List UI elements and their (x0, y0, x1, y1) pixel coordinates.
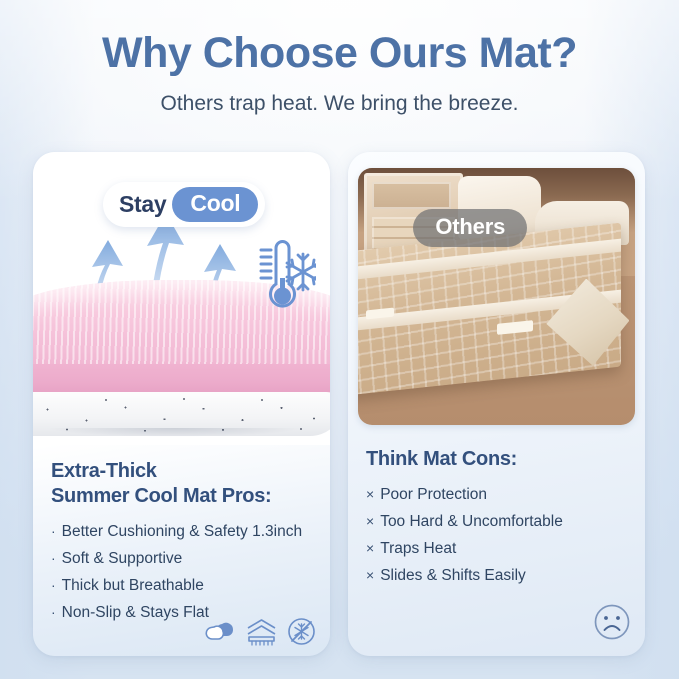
others-badge: Others (413, 209, 527, 247)
list-item: × Too Hard & Uncomfortable (366, 508, 627, 535)
bullet-text: Too Hard & Uncomfortable (380, 509, 563, 535)
cons-body: Think Mat Cons: × Poor Protection × Too … (348, 425, 645, 656)
list-item: · Better Cushioning & Safety 1.3inch (51, 518, 312, 545)
bullet-text: Non-Slip & Stays Flat (62, 600, 209, 626)
mat-shadow (33, 428, 322, 440)
bullet-marker: · (51, 599, 56, 625)
pros-heading: Extra-Thick Summer Cool Mat Pros: (51, 459, 312, 509)
cross-marker: × (366, 508, 374, 534)
sad-face-wrapper (593, 603, 631, 646)
cons-list: × Poor Protection × Too Hard & Uncomfort… (366, 481, 627, 589)
comparison-infographic: Why Choose Ours Mat? Others trap heat. W… (0, 0, 679, 679)
cross-marker: × (366, 535, 374, 561)
snowflake-icon (287, 254, 316, 290)
list-item: · Soft & Supportive (51, 545, 312, 572)
bullet-text: Soft & Supportive (62, 546, 183, 572)
header: Why Choose Ours Mat? Others trap heat. W… (0, 26, 679, 118)
anti-mite-icon (287, 617, 316, 646)
bullet-marker: · (51, 545, 56, 571)
breathable-layers-icon (245, 618, 278, 646)
pros-list: · Better Cushioning & Safety 1.3inch · S… (51, 518, 312, 626)
cons-card: Others Think Mat Cons: × Poor Protection… (348, 152, 645, 656)
pros-body: Extra-Thick Summer Cool Mat Pros: · Bett… (33, 445, 330, 656)
pros-heading-line1: Extra-Thick (51, 460, 157, 482)
bullet-text: Poor Protection (380, 482, 487, 508)
sad-face-icon (593, 603, 631, 641)
others-mat-photo: Others (358, 168, 635, 425)
bullet-marker: · (51, 518, 56, 544)
bedroom-photo: Others (358, 168, 635, 425)
list-item: × Slides & Shifts Easily (366, 562, 627, 589)
pros-card: Stay Cool (33, 152, 330, 656)
pros-heading-line2: Summer Cool Mat Pros: (51, 485, 271, 507)
page-subtitle: Others trap heat. We bring the breeze. (0, 90, 679, 118)
thermometer-snowflake-group (232, 238, 316, 321)
stay-cool-badge: Stay Cool (103, 182, 265, 227)
comparison-cards: Stay Cool (33, 152, 646, 656)
badge-word-cool: Cool (172, 187, 258, 222)
bullet-text: Slides & Shifts Easily (380, 563, 526, 589)
badge-word-stay: Stay (119, 191, 166, 218)
feature-icons (205, 617, 316, 646)
bullet-text: Traps Heat (380, 536, 456, 562)
cooling-mat-illustration: Stay Cool (33, 152, 330, 445)
bullet-text: Thick but Breathable (62, 573, 204, 599)
others-badge-label: Others (435, 214, 505, 239)
soft-cloud-icon (205, 618, 236, 646)
list-item: × Traps Heat (366, 535, 627, 562)
cons-heading: Think Mat Cons: (366, 447, 627, 472)
thermometer-icon (232, 238, 316, 316)
bullet-text: Better Cushioning & Safety 1.3inch (62, 519, 302, 545)
bullet-marker: · (51, 572, 56, 598)
list-item: × Poor Protection (366, 481, 627, 508)
page-title: Why Choose Ours Mat? (0, 26, 679, 80)
list-item: · Thick but Breathable (51, 572, 312, 599)
cross-marker: × (366, 481, 374, 507)
cross-marker: × (366, 562, 374, 588)
